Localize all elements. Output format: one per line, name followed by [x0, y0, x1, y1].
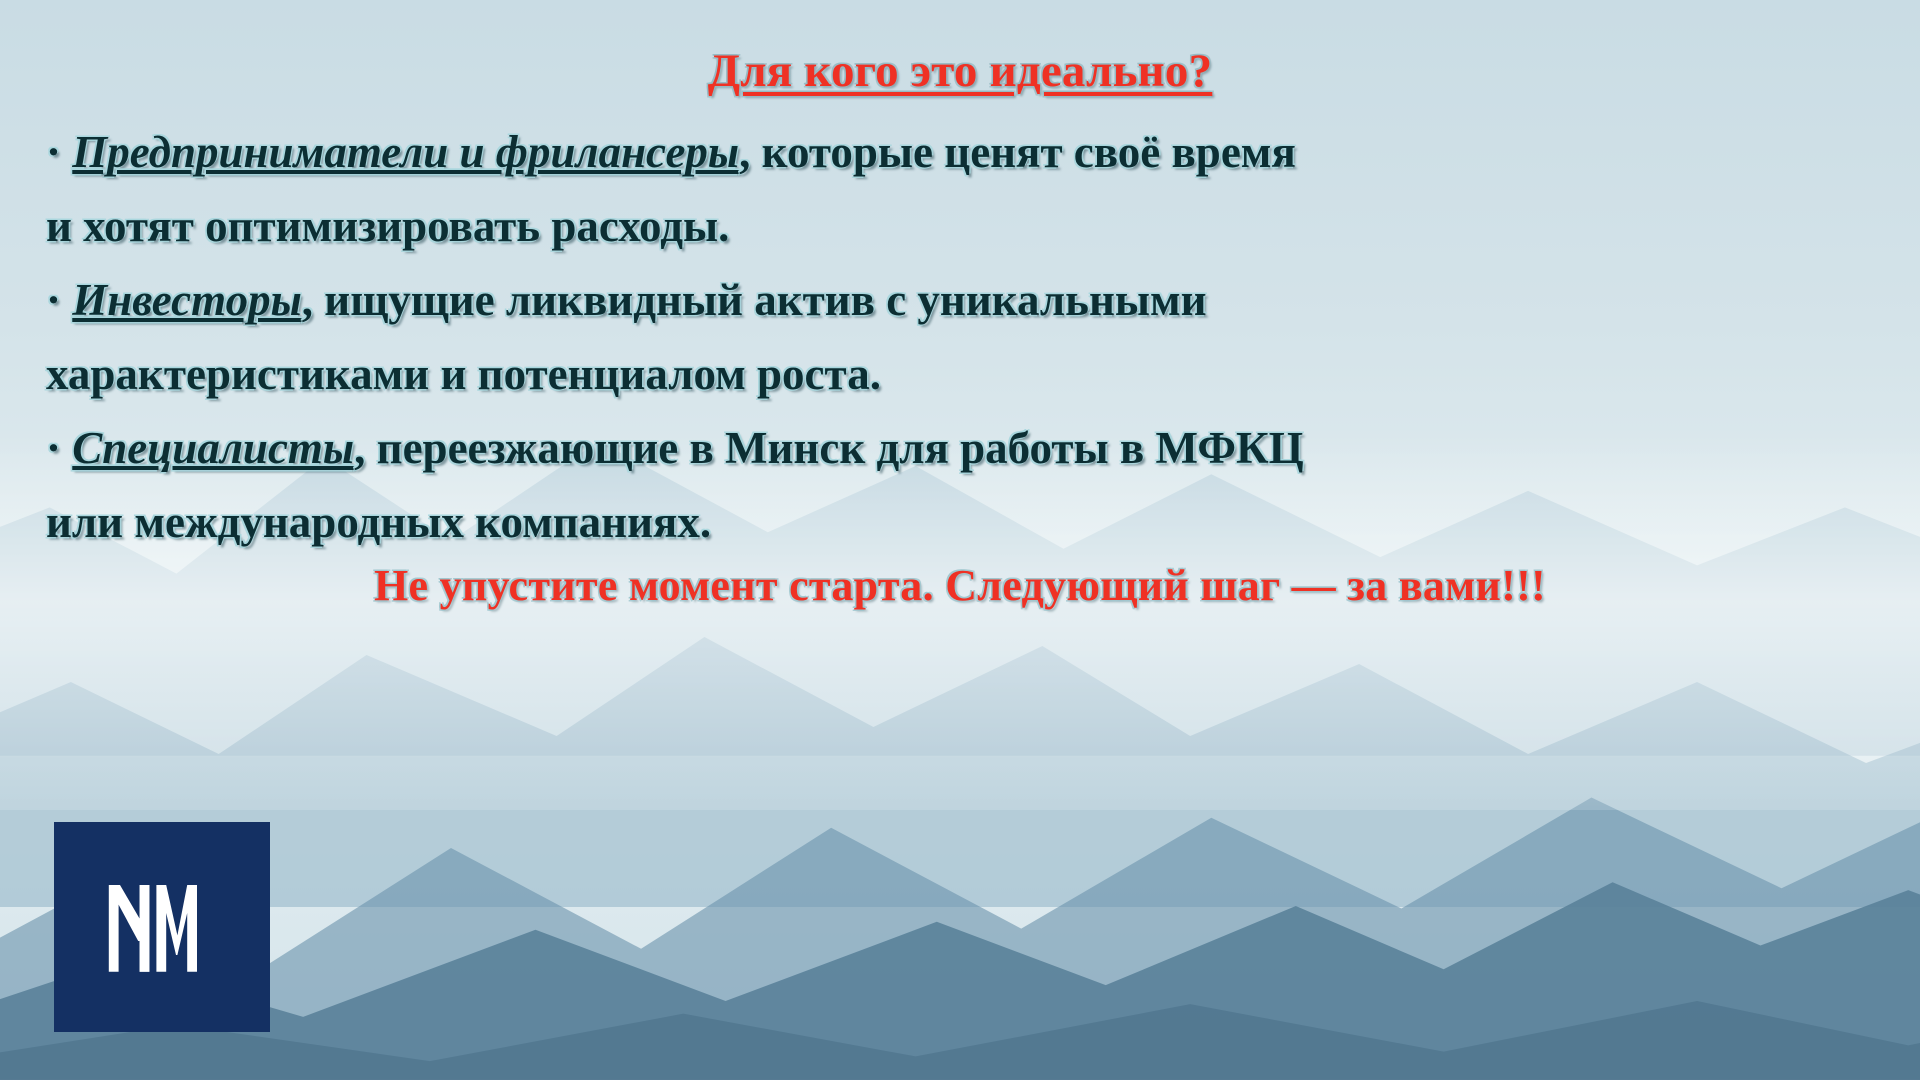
list-item-continuation: или международных компаниях.	[46, 485, 1880, 559]
call-to-action-text: Не упустите момент старта. Следующий шаг…	[0, 560, 1920, 611]
marketing-slide: Для кого это идеально? · Предприниматели…	[0, 0, 1920, 1080]
bullet-rest: , переезжающие в Минск для работы в МФКЦ	[354, 423, 1303, 473]
bullet-marker: ·	[46, 275, 61, 325]
page-title: Для кого это идеально?	[0, 44, 1920, 98]
bullet-marker: ·	[46, 127, 61, 177]
bullet-rest: , ищущие ликвидный актив с уникальными	[302, 275, 1207, 325]
list-item: · Инвесторы, ищущие ликвидный актив с ун…	[46, 263, 1880, 337]
list-item-continuation: характеристиками и потенциалом роста.	[46, 337, 1880, 411]
list-item: · Специалисты, переезжающие в Минск для …	[46, 411, 1880, 485]
bullet-lead-audience: Специалисты	[72, 423, 354, 473]
bullet-lead-audience: Инвесторы	[72, 275, 302, 325]
list-item-continuation: и хотят оптимизировать расходы.	[46, 189, 1880, 263]
bullet-marker: ·	[46, 423, 61, 473]
bullet-rest: , которые ценят своё время	[739, 127, 1296, 177]
slide-content: Для кого это идеально? · Предприниматели…	[0, 0, 1920, 1080]
brand-logo	[54, 822, 270, 1032]
mw-monogram-icon	[92, 857, 232, 997]
list-item: · Предприниматели и фрилансеры, которые …	[46, 115, 1880, 189]
bullet-lead-audience: Предприниматели и фрилансеры	[72, 127, 739, 177]
bullet-list: · Предприниматели и фрилансеры, которые …	[46, 115, 1880, 559]
